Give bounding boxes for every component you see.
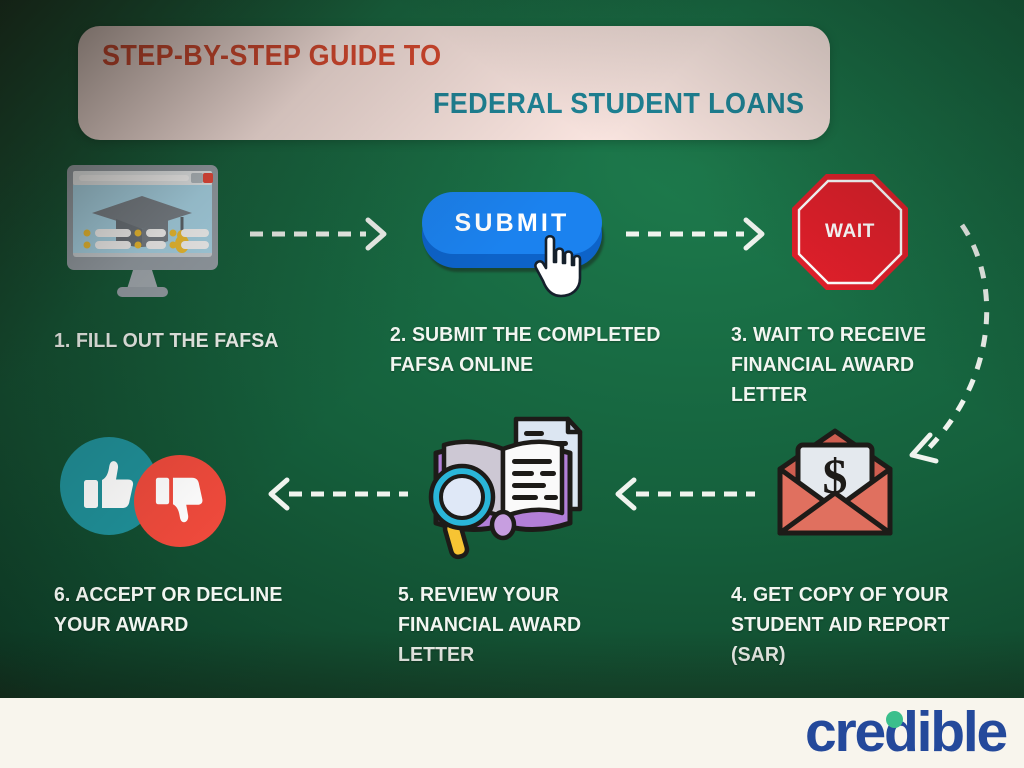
arrow-step2-to-step3-icon <box>624 212 776 256</box>
title-banner: STEP-BY-STEP GUIDE TO FEDERAL STUDENT LO… <box>78 26 830 140</box>
book-magnifier-icon <box>420 413 586 561</box>
step-label-6: 6. ACCEPT OR DECLINE YOUR AWARD <box>54 580 339 640</box>
thumbs-up-down-icon <box>60 437 232 547</box>
arrow-step1-to-step2-icon <box>248 212 398 256</box>
monitor-graduation-cap-icon <box>60 163 225 300</box>
step-label-4: 4. GET COPY OF YOUR STUDENT AID REPORT (… <box>731 580 992 670</box>
title-line-secondary: FEDERAL STUDENT LOANS <box>433 88 804 121</box>
hand-cursor-icon <box>528 232 588 300</box>
infographic-canvas: STEP-BY-STEP GUIDE TO FEDERAL STUDENT LO… <box>0 0 1024 768</box>
thumbs-down-glyph <box>154 473 209 528</box>
title-line-primary: STEP-BY-STEP GUIDE TO <box>102 40 442 73</box>
arrow-step5-to-step6-icon <box>255 472 410 516</box>
step-label-2: 2. SUBMIT THE COMPLETED FAFSA ONLINE <box>390 320 704 380</box>
submit-button-icon[interactable]: SUBMIT <box>418 190 614 300</box>
thumbs-up-glyph <box>82 457 140 515</box>
step-label-1: 1. FILL OUT THE FAFSA <box>54 326 339 356</box>
credible-logo[interactable]: credible <box>805 704 1006 761</box>
arrow-step3-to-step4-icon <box>880 215 1010 485</box>
footer-bar: credible <box>0 698 1024 768</box>
step-label-5: 5. REVIEW YOUR FINANCIAL AWARD LETTER <box>398 580 636 670</box>
arrow-step4-to-step5-icon <box>602 472 757 516</box>
envelope-dollar-icon: $ <box>772 427 898 542</box>
credible-logo-dot-icon <box>886 711 903 728</box>
